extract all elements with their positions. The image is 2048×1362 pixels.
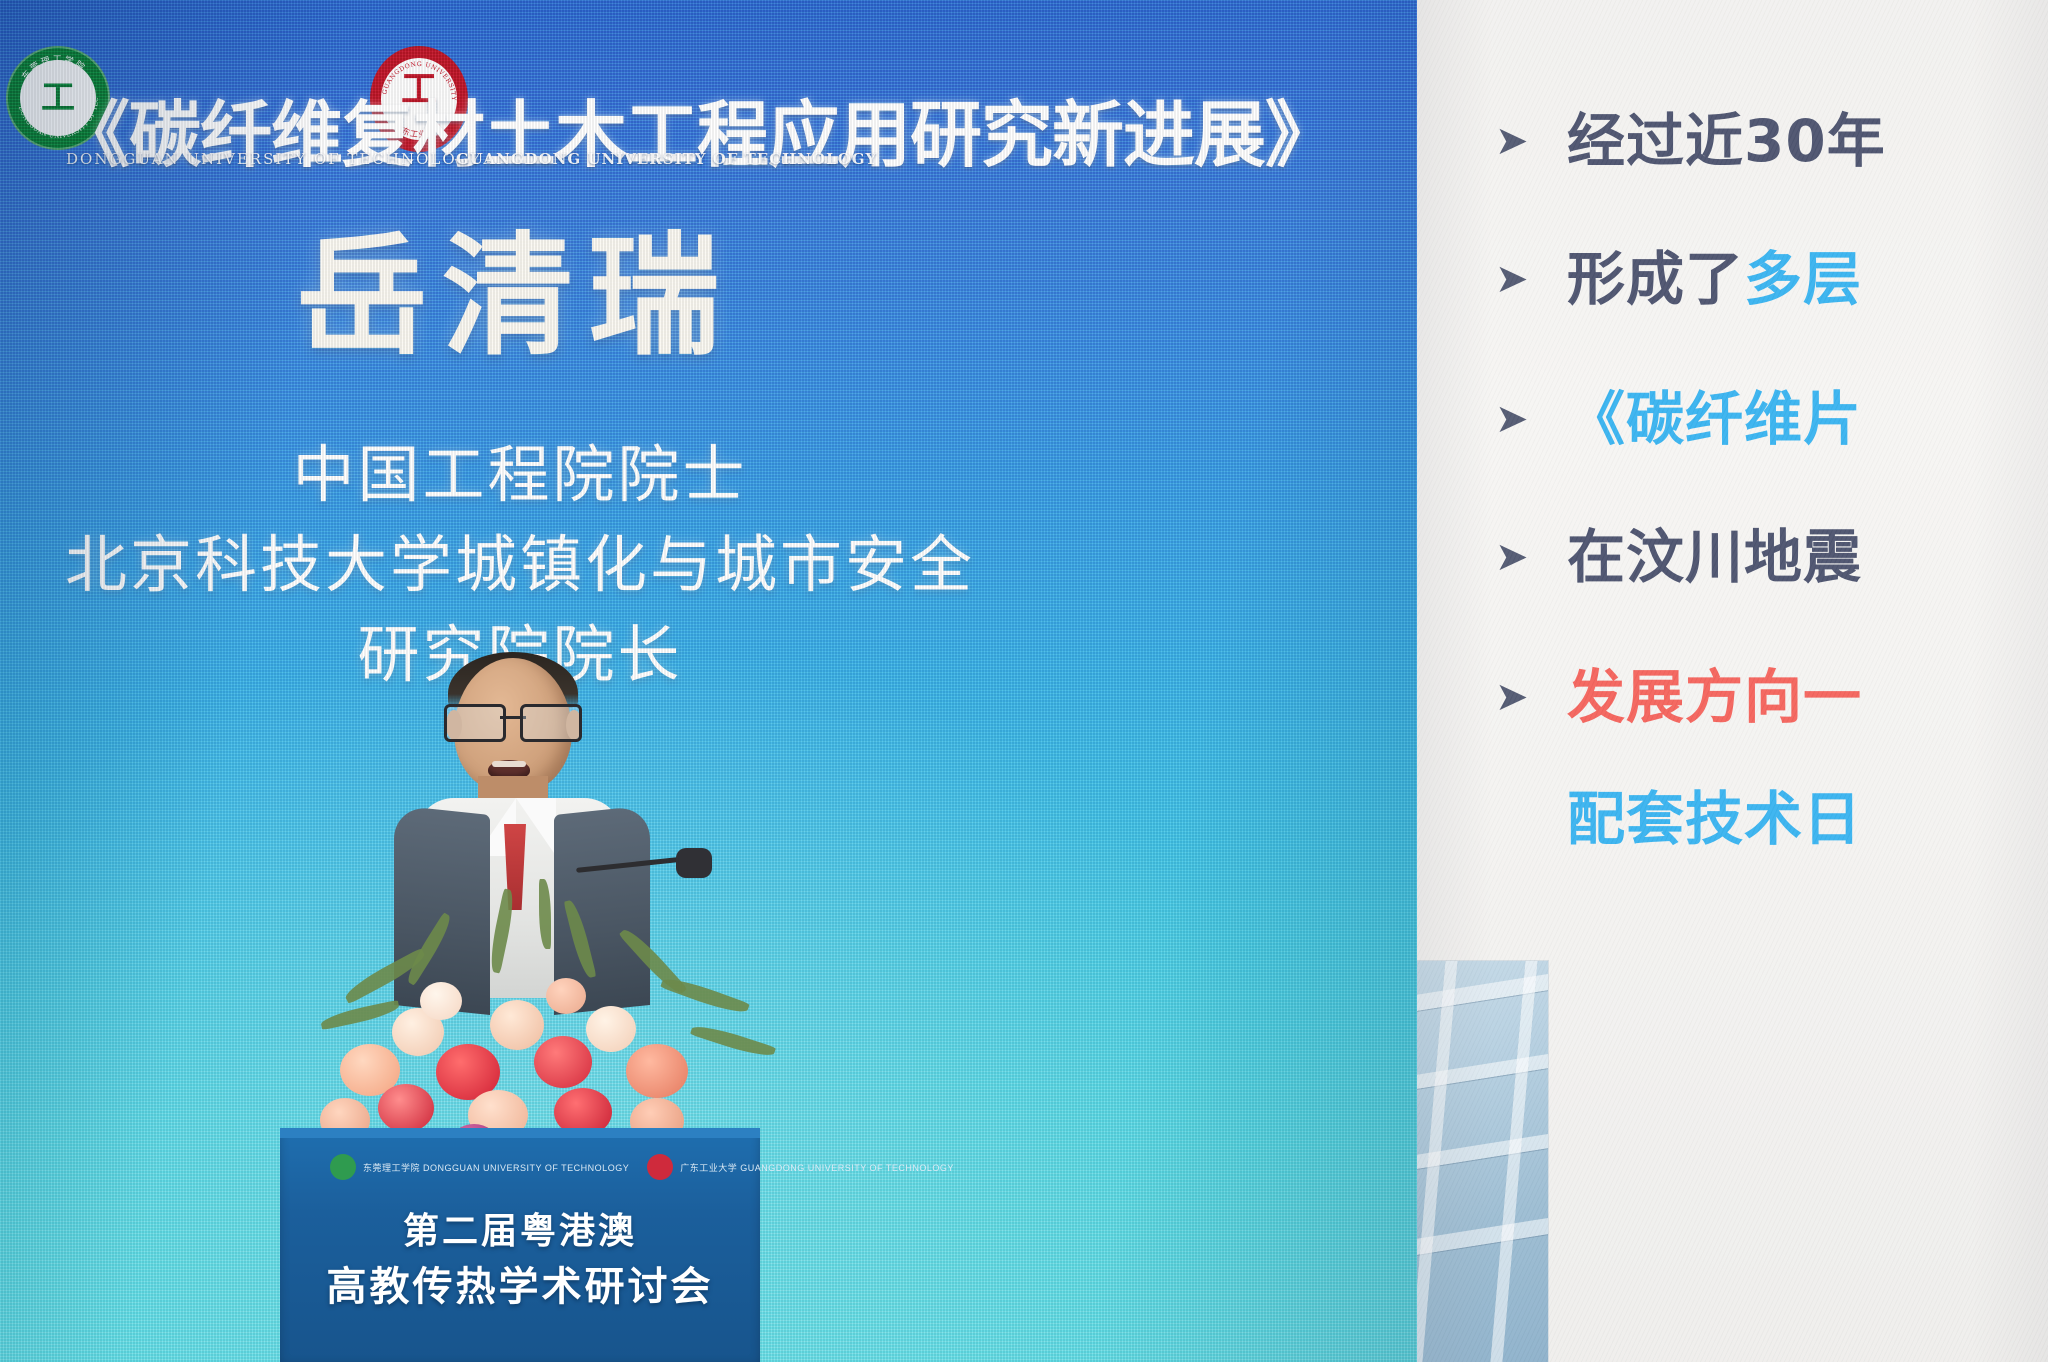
podium-logo-row: 东莞理工学院 DONGGUAN UNIVERSITY OF TECHNOLOGY… — [330, 1150, 710, 1184]
dgut-logo-english-caption: DONGGUAN UNIVERSITY OF TECHNOLOGY — [66, 150, 482, 168]
podium-banner-line-1: 第二届粤港澳 — [280, 1202, 760, 1254]
slide-photo-thumbnail — [1417, 960, 1549, 1362]
bullet-text-2: 形成了 — [1567, 250, 1744, 308]
arrow-bullet-icon: ➤ — [1495, 399, 1549, 439]
dgut-logo-mark-icon — [330, 1154, 356, 1180]
bullet-text-3: 《碳纤维片 — [1567, 390, 1862, 448]
gdut-logo-english-caption: GUANGDONG UNIVERSITY OF TECHNOLOGY — [456, 150, 877, 168]
gdut-logo-mark-icon — [647, 1154, 673, 1180]
podium-logo-gdut: 广东工业大学 GUANGDONG UNIVERSITY OF TECHNOLOG… — [647, 1154, 954, 1180]
arrow-bullet-icon: ➤ — [1495, 677, 1549, 717]
bullet-item-6: 配套技术日 — [1495, 790, 1862, 848]
bullet-item-1: ➤ 经过近30年 — [1495, 112, 1886, 170]
slide-header: 工 东莞理工学院 DONGGUAN UNIVERSITY OF TECHNOLO… — [0, 40, 1417, 148]
speaker-glasses — [442, 704, 584, 738]
bullet-text-1: 经过近30年 — [1567, 112, 1886, 170]
bullet-item-3: ➤ 《碳纤维片 — [1495, 390, 1862, 448]
arrow-bullet-icon: ➤ — [1495, 121, 1549, 161]
conference-stage-photo: 工 东莞理工学院 DONGGUAN UNIVERSITY OF TECHNOLO… — [0, 0, 2048, 1362]
podium-banner-line-2: 高教传热学术研讨会 — [280, 1254, 760, 1312]
projection-screen: ➤ 经过近30年 ➤ 形成了 多层 ➤ 《碳纤维片 ➤ 在汶川地震 ➤ 发展方向… — [1417, 0, 2048, 1362]
bullet-text-5: 发展方向一 — [1567, 668, 1862, 726]
speaker-at-podium: 东莞理工学院 DONGGUAN UNIVERSITY OF TECHNOLOGY… — [380, 648, 680, 1362]
podium-logo-dgut: 东莞理工学院 DONGGUAN UNIVERSITY OF TECHNOLOGY — [330, 1154, 629, 1180]
bullet-item-2: ➤ 形成了 多层 — [1495, 250, 1862, 308]
arrow-bullet-icon: ➤ — [1495, 537, 1549, 577]
bullet-text-2-accent: 多层 — [1744, 250, 1862, 308]
bullet-text-4: 在汶川地震 — [1567, 528, 1862, 586]
bullet-item-5: ➤ 发展方向一 — [1495, 668, 1862, 726]
podium-logo-label-gdut: 广东工业大学 GUANGDONG UNIVERSITY OF TECHNOLOG… — [680, 1161, 954, 1174]
podium-logo-label-dgut: 东莞理工学院 DONGGUAN UNIVERSITY OF TECHNOLOGY — [363, 1161, 629, 1174]
microphone — [576, 858, 706, 872]
beam-structure-illustration — [1417, 961, 1548, 1362]
arrow-bullet-icon: ➤ — [1495, 259, 1549, 299]
podium: 东莞理工学院 DONGGUAN UNIVERSITY OF TECHNOLOGY… — [280, 1128, 760, 1362]
speaker-name: 岳清瑞 — [0, 190, 1030, 381]
bullet-text-6: 配套技术日 — [1567, 790, 1862, 848]
credential-line-2: 北京科技大学城镇化与城市安全 — [0, 520, 1040, 610]
credential-line-1: 中国工程院院士 — [0, 430, 1040, 520]
bullet-item-4: ➤ 在汶川地震 — [1495, 528, 1862, 586]
